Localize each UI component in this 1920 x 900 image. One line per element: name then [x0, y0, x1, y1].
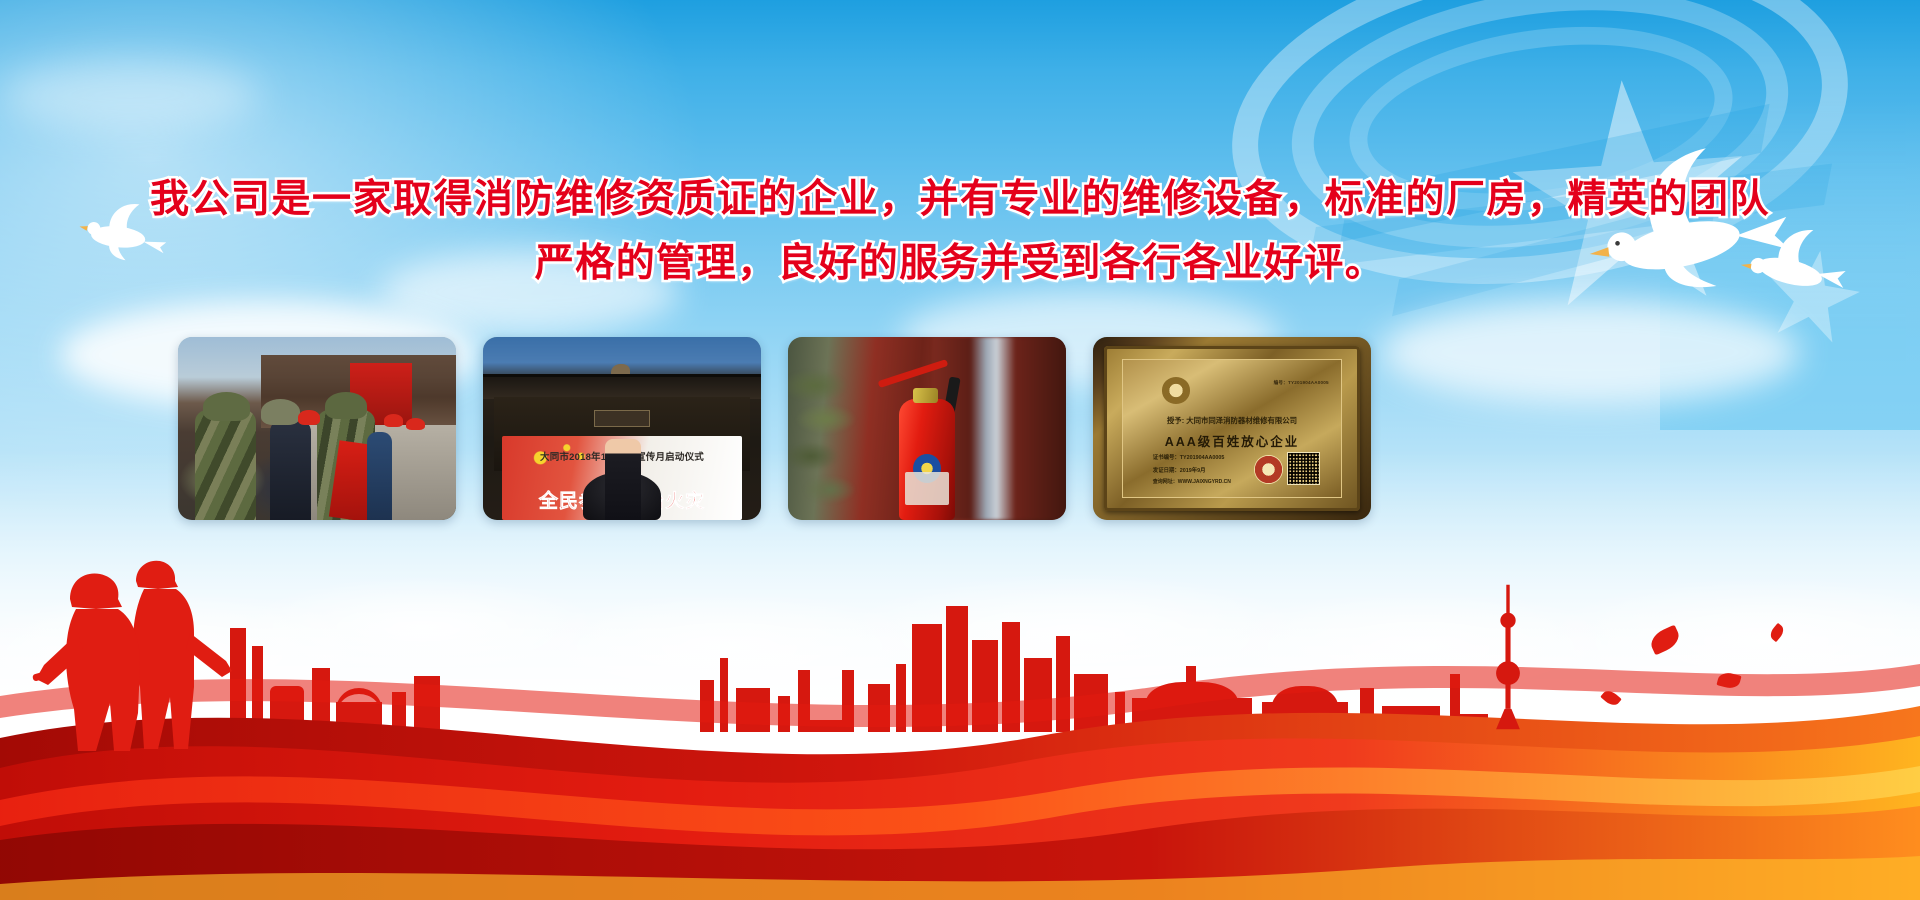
banner-stage: 我公司是一家取得消防维修资质证的企业，并有专业的维修设备，标准的厂房，精英的团队… [0, 0, 1920, 900]
cloud-right [1380, 300, 1800, 404]
credibility-emblem-icon [1162, 377, 1191, 403]
temple-plaque [594, 410, 650, 426]
bystander-blue [367, 432, 392, 520]
plaque-serial: 编号：TY201904AA0005 [1274, 380, 1329, 386]
plaque-face: 编号：TY201904AA0005 授予: 大同市同泽消防器材维修有限公司 AA… [1122, 359, 1342, 497]
red-cap-3 [406, 418, 425, 431]
speaker-figure [605, 439, 641, 520]
officials-inspection-photo[interactable] [178, 337, 456, 520]
aaa-certificate-plaque-photo[interactable]: 编号：TY201904AA0005 授予: 大同市同泽消防器材维修有限公司 AA… [1093, 337, 1371, 520]
soldier-camo-left [195, 410, 256, 520]
palm-plant [788, 352, 871, 520]
photo-gallery: 大同市2018年119消防宣传月启动仪式 全民参与 防治火灾 [178, 337, 1371, 520]
plaque-issue-date: 发证日期：2019年9月 [1153, 466, 1206, 474]
fire-extinguisher-photo[interactable] [788, 337, 1066, 520]
oriental-pearl-tower-icon [1491, 582, 1525, 732]
plaque-cert-no: 证书编号：TY201904AA0005 [1153, 453, 1225, 461]
plaque-website: 查询网址：WWW.JAIXNGYRD.CN [1153, 478, 1231, 485]
dove-right-small-icon [1725, 214, 1855, 307]
camo-cap-2 [261, 399, 300, 425]
red-cap-1 [298, 410, 320, 425]
plaque-seal-icon [1254, 455, 1283, 484]
extinguisher-valve [913, 388, 938, 403]
red-ribbon-waves [0, 500, 1920, 900]
temple-roof [483, 377, 761, 399]
cloud-top-left [0, 60, 260, 130]
bottom-red-graphic [0, 500, 1920, 900]
firefighter-silhouettes-icon [18, 537, 248, 752]
official-dark-coat [270, 418, 312, 520]
plaque-qr-code-icon [1287, 452, 1320, 485]
plaque-title: AAA级百姓放心企业 [1122, 431, 1342, 450]
extinguisher-label [905, 472, 949, 505]
fire-prevention-ceremony-photo[interactable]: 大同市2018年119消防宣传月启动仪式 全民参与 防治火灾 [483, 337, 761, 520]
camo-cap-3 [325, 392, 367, 419]
red-cap-2 [384, 414, 403, 427]
plaque-frame: 编号：TY201904AA0005 授予: 大同市同泽消防器材维修有限公司 AA… [1104, 346, 1360, 511]
camo-cap-1 [203, 392, 250, 421]
plaque-award-line: 授予: 大同市同泽消防器材维修有限公司 [1122, 415, 1342, 426]
